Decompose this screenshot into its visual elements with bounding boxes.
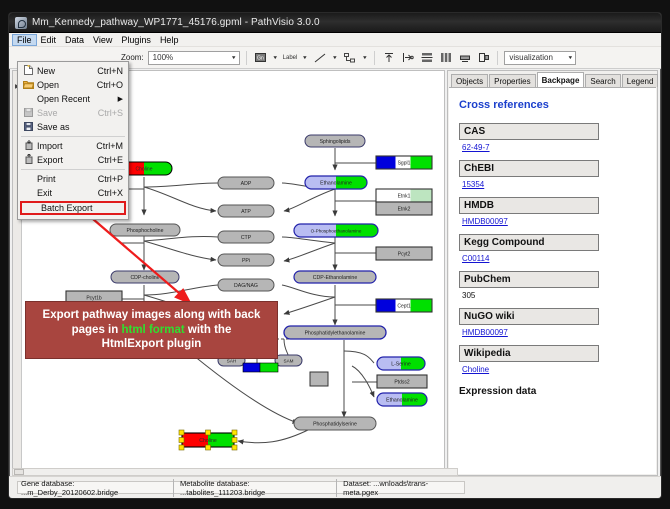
- menu-file[interactable]: File: [12, 34, 37, 46]
- import-icon: [20, 140, 37, 152]
- align-stack-icon[interactable]: [419, 50, 434, 65]
- interaction-dropdown-icon[interactable]: ▼: [361, 55, 368, 60]
- svg-text:Cept1: Cept1: [397, 304, 411, 310]
- svg-text:O-Phosphoethanolamine: O-Phosphoethanolamine: [311, 229, 362, 234]
- cross-references-title: Cross references: [459, 99, 646, 111]
- svg-text:Ethanolamine: Ethanolamine: [386, 398, 418, 404]
- xref-db-nugo: NuGO wiki: [459, 308, 599, 325]
- chevron-down-icon-2: ▼: [567, 55, 573, 60]
- backpage-content: Cross references CAS 62-49-7 ChEBI 15354…: [449, 87, 656, 474]
- side-panel: Objects Properties Backpage Search Legen…: [447, 70, 658, 476]
- xref-db-wikipedia: Wikipedia: [459, 345, 599, 362]
- file-menu-open-recent-label: Open Recent: [37, 94, 118, 104]
- file-menu-new[interactable]: New Ctrl+N: [18, 64, 128, 78]
- svg-text:Phosphatidylethanolamine: Phosphatidylethanolamine: [305, 331, 366, 337]
- file-menu-save-as[interactable]: Save as: [18, 120, 128, 134]
- interaction-tool-icon[interactable]: [342, 50, 357, 65]
- svg-text:Ptdss2: Ptdss2: [394, 380, 410, 386]
- file-menu-import-accel: Ctrl+M: [96, 141, 128, 151]
- zoom-combobox[interactable]: 100% ▼: [148, 51, 240, 65]
- status-gene-database: Gene database: ...m_Derby_20120602.bridg…: [18, 479, 173, 497]
- new-file-icon: [20, 65, 37, 77]
- file-menu-print-accel: Ctrl+P: [98, 174, 128, 184]
- menu-plugins[interactable]: Plugins: [117, 34, 156, 46]
- svg-text:CDP-choline: CDP-choline: [130, 275, 159, 281]
- align-top-icon[interactable]: [381, 50, 396, 65]
- menubar: File Edit Data View Plugins Help: [9, 33, 661, 47]
- visualization-combobox[interactable]: visualization ▼: [504, 51, 576, 65]
- menu-edit[interactable]: Edit: [37, 34, 62, 46]
- svg-text:Sphingolipids: Sphingolipids: [320, 139, 351, 145]
- order-back-icon[interactable]: [476, 50, 491, 65]
- svg-text:ADP: ADP: [241, 181, 252, 187]
- xref-value-hmdb[interactable]: HMDB00097: [462, 217, 646, 226]
- toolbar-separator: [246, 51, 247, 65]
- callout-highlight: html format: [121, 324, 184, 336]
- svg-text:Choline: Choline: [136, 167, 153, 173]
- file-menu-batch-export-label: Batch Export: [41, 203, 124, 213]
- canvas-horizontal-scrollbar[interactable]: [12, 468, 458, 476]
- statusbar-inner: Gene database: ...m_Derby_20120602.bridg…: [17, 481, 465, 494]
- order-front-icon[interactable]: [457, 50, 472, 65]
- svg-text:DAG/NAG: DAG/NAG: [234, 283, 258, 289]
- file-menu-save: Save Ctrl+S: [18, 106, 128, 120]
- svg-text:Pcyt2: Pcyt2: [398, 252, 411, 258]
- svg-text:Choline: Choline: [199, 438, 217, 444]
- callout-line1: Export pathway images along with back: [43, 309, 261, 321]
- file-menu-dropdown[interactable]: New Ctrl+N Open Ctrl+O Open Recent ▶ Sav…: [17, 61, 129, 220]
- xref-db-hmdb: HMDB: [459, 197, 599, 214]
- file-menu-export[interactable]: Export Ctrl+E: [18, 153, 128, 167]
- file-menu-save-as-label: Save as: [37, 122, 123, 132]
- align-left-icon[interactable]: [400, 50, 415, 65]
- side-panel-tabs: Objects Properties Backpage Search Legen…: [448, 71, 657, 87]
- line-tool-icon[interactable]: [312, 50, 327, 65]
- svg-text:Gn: Gn: [257, 56, 264, 62]
- tab-legend[interactable]: Legend: [622, 74, 659, 87]
- file-menu-export-label: Export: [37, 155, 98, 165]
- menu-help[interactable]: Help: [156, 34, 184, 46]
- xref-value-cas[interactable]: 62-49-7: [462, 143, 646, 152]
- menu-view[interactable]: View: [89, 34, 117, 46]
- file-menu-export-accel: Ctrl+E: [98, 155, 128, 165]
- svg-text:Phosphocholine: Phosphocholine: [127, 228, 164, 234]
- tab-objects[interactable]: Objects: [451, 74, 488, 87]
- window-titlebar: Mm_Kennedy_pathway_WP1771_45176.gpml - P…: [9, 13, 661, 33]
- file-menu-open-accel: Ctrl+O: [97, 80, 128, 90]
- label-tool-label[interactable]: Label: [283, 55, 298, 61]
- xref-db-cas: CAS: [459, 123, 599, 140]
- callout-line3: HtmlExport plugin: [102, 338, 202, 350]
- svg-text:SAH: SAH: [227, 359, 236, 364]
- svg-text:Phosphatidylserine: Phosphatidylserine: [313, 422, 357, 428]
- save-icon: [20, 108, 37, 119]
- file-menu-print[interactable]: Print Ctrl+P: [18, 172, 128, 186]
- file-menu-open-recent[interactable]: Open Recent ▶: [18, 92, 128, 106]
- scrollbar-thumb[interactable]: [14, 469, 24, 475]
- xref-db-chebi: ChEBI: [459, 160, 599, 177]
- window-title: Mm_Kennedy_pathway_WP1771_45176.gpml - P…: [32, 17, 320, 28]
- xref-db-kegg: Kegg Compound: [459, 234, 599, 251]
- tab-backpage[interactable]: Backpage: [537, 72, 585, 87]
- svg-text:PPi: PPi: [242, 258, 250, 264]
- export-icon: [20, 154, 37, 166]
- file-menu-import-label: Import: [37, 141, 96, 151]
- visualization-value: visualization: [509, 53, 553, 62]
- tab-properties[interactable]: Properties: [489, 74, 535, 87]
- svg-text:CDP-Ethanolamine: CDP-Ethanolamine: [313, 275, 358, 281]
- tab-search[interactable]: Search: [585, 74, 620, 87]
- xref-value-pubchem: 305: [462, 291, 646, 300]
- svg-text:ATP: ATP: [241, 209, 251, 215]
- statusbar: Gene database: ...m_Derby_20120602.bridg…: [9, 476, 661, 498]
- desktop-background: Mm_Kennedy_pathway_WP1771_45176.gpml - P…: [0, 0, 670, 509]
- status-dataset: Dataset: ...wnloads\trans-meta.pgex: [336, 479, 464, 497]
- toolbar-separator-2: [374, 51, 375, 65]
- file-menu-open[interactable]: Open Ctrl+O: [18, 78, 128, 92]
- pathvisio-icon: [15, 17, 27, 29]
- file-menu-exit-label: Exit: [37, 188, 98, 198]
- geneproduct-dropdown-icon[interactable]: ▼: [272, 55, 279, 60]
- expression-data-title: Expression data: [459, 386, 646, 397]
- folder-icon: [20, 80, 37, 91]
- file-menu-print-label: Print: [37, 174, 98, 184]
- toolbar-separator-3: [497, 51, 498, 65]
- submenu-arrow-icon: ▶: [118, 95, 128, 103]
- file-menu-import[interactable]: Import Ctrl+M: [18, 139, 128, 153]
- svg-text:Etnk2: Etnk2: [398, 207, 411, 213]
- xref-value-kegg[interactable]: C00114: [462, 254, 646, 263]
- file-menu-new-label: New: [37, 66, 97, 76]
- status-metabolite-database: Metabolite database: ...tabolites_111203…: [173, 479, 336, 497]
- svg-text:L-Serine: L-Serine: [391, 362, 411, 368]
- callout-line2-a: pages in: [72, 324, 122, 336]
- svg-text:Ethanolamine: Ethanolamine: [320, 181, 352, 187]
- chevron-down-icon: ▼: [231, 55, 237, 60]
- file-menu-new-accel: Ctrl+N: [97, 66, 128, 76]
- menu-data[interactable]: Data: [61, 34, 89, 46]
- geneproduct-icon[interactable]: Gn: [253, 50, 268, 65]
- svg-text:Etnk1: Etnk1: [398, 194, 411, 200]
- file-menu-save-label: Save: [37, 108, 98, 118]
- file-menu-open-label: Open: [37, 80, 97, 90]
- svg-text:Sgpl1: Sgpl1: [398, 161, 411, 167]
- file-menu-exit-accel: Ctrl+X: [98, 188, 128, 198]
- application-window: Mm_Kennedy_pathway_WP1771_45176.gpml - P…: [8, 12, 662, 499]
- save-as-icon: [20, 122, 37, 133]
- annotation-arrow: [79, 207, 190, 303]
- file-menu-separator-1: [21, 136, 125, 137]
- align-width-icon[interactable]: [438, 50, 453, 65]
- line-dropdown-icon[interactable]: ▼: [331, 55, 338, 60]
- zoom-value: 100%: [153, 53, 173, 62]
- xref-db-pubchem: PubChem: [459, 271, 599, 288]
- label-dropdown-icon[interactable]: ▼: [301, 55, 308, 60]
- file-menu-exit[interactable]: Exit Ctrl+X: [18, 186, 128, 200]
- file-menu-batch-export[interactable]: Batch Export: [20, 201, 126, 215]
- annotation-callout: Export pathway images along with back pa…: [25, 301, 278, 359]
- xref-value-nugo[interactable]: HMDB00097: [462, 328, 646, 337]
- callout-line2-b: with the: [185, 324, 232, 336]
- svg-text:CTP: CTP: [241, 235, 252, 241]
- xref-value-chebi[interactable]: 15354: [462, 180, 646, 189]
- file-menu-separator-2: [21, 169, 125, 170]
- file-menu-save-accel: Ctrl+S: [98, 108, 128, 118]
- xref-value-wikipedia[interactable]: Choline: [462, 365, 646, 374]
- svg-text:SAM: SAM: [284, 359, 294, 364]
